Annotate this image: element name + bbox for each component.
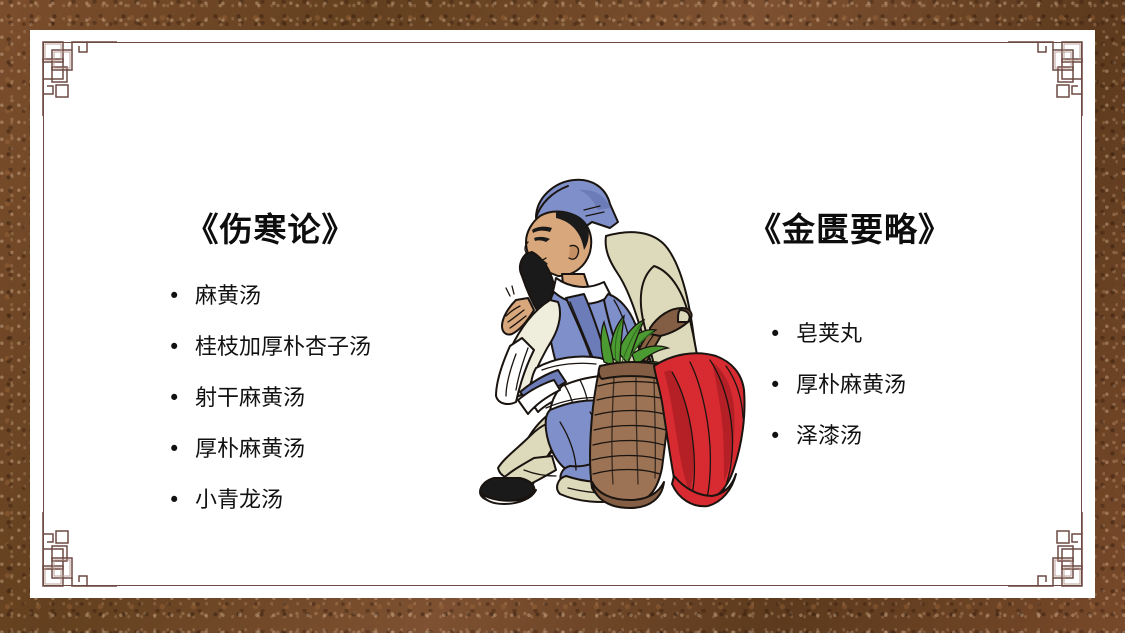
list-item: • 皂荚丸 bbox=[769, 324, 926, 346]
list-item-label: 小青龙汤 bbox=[195, 490, 283, 512]
corner-ornament-bottom-left bbox=[39, 512, 117, 590]
bullet-icon: • bbox=[769, 375, 796, 396]
title-shanghanlun: 《伤寒论》 bbox=[168, 212, 373, 248]
list-item-label: 射干麻黄汤 bbox=[195, 388, 305, 410]
list-item-label: 桂枝加厚朴杏子汤 bbox=[195, 337, 371, 359]
list-item-label: 麻黄汤 bbox=[195, 286, 261, 308]
list-item: • 麻黄汤 bbox=[168, 286, 373, 308]
column-shanghanlun: 《伤寒论》 • 麻黄汤 • 桂枝加厚朴杏子汤 • 射干麻黄汤 • 厚朴麻黄汤 bbox=[168, 212, 373, 541]
column-jinguiyaolue: 《金匮要略》 • 皂荚丸 • 厚朴麻黄汤 • 泽漆汤 bbox=[748, 212, 926, 477]
bullet-icon: • bbox=[769, 426, 796, 447]
list-item-label: 泽漆汤 bbox=[796, 426, 862, 448]
title-jinguiyaolue: 《金匮要略》 bbox=[748, 212, 926, 248]
slide-page: 《伤寒论》 • 麻黄汤 • 桂枝加厚朴杏子汤 • 射干麻黄汤 • 厚朴麻黄汤 bbox=[30, 30, 1095, 598]
list-item: • 小青龙汤 bbox=[168, 490, 373, 512]
list-item: • 厚朴麻黄汤 bbox=[769, 375, 926, 397]
bullet-icon: • bbox=[168, 388, 195, 409]
formula-list-shanghanlun: • 麻黄汤 • 桂枝加厚朴杏子汤 • 射干麻黄汤 • 厚朴麻黄汤 • 小青龙 bbox=[168, 286, 373, 512]
list-item: • 射干麻黄汤 bbox=[168, 388, 373, 410]
bullet-icon: • bbox=[168, 286, 195, 307]
corner-ornament-top-left bbox=[39, 38, 117, 116]
formula-list-jinguiyaolue: • 皂荚丸 • 厚朴麻黄汤 • 泽漆汤 bbox=[769, 324, 926, 448]
bullet-icon: • bbox=[769, 324, 796, 345]
list-item: • 桂枝加厚朴杏子汤 bbox=[168, 337, 373, 359]
corner-ornament-bottom-right bbox=[1008, 512, 1086, 590]
list-item-label: 皂荚丸 bbox=[796, 324, 862, 346]
illustration-seated-herbalist-physician: .ln { stroke:#1a1410; stroke-width:2; st… bbox=[458, 170, 750, 522]
bullet-icon: • bbox=[168, 337, 195, 358]
slide-canvas: 《伤寒论》 • 麻黄汤 • 桂枝加厚朴杏子汤 • 射干麻黄汤 • 厚朴麻黄汤 bbox=[0, 0, 1125, 633]
list-item: • 泽漆汤 bbox=[769, 426, 926, 448]
corner-ornament-top-right bbox=[1008, 38, 1086, 116]
list-item: • 厚朴麻黄汤 bbox=[168, 439, 373, 461]
list-item-label: 厚朴麻黄汤 bbox=[195, 439, 305, 461]
list-item-label: 厚朴麻黄汤 bbox=[796, 375, 906, 397]
bullet-icon: • bbox=[168, 490, 195, 511]
bullet-icon: • bbox=[168, 439, 195, 460]
